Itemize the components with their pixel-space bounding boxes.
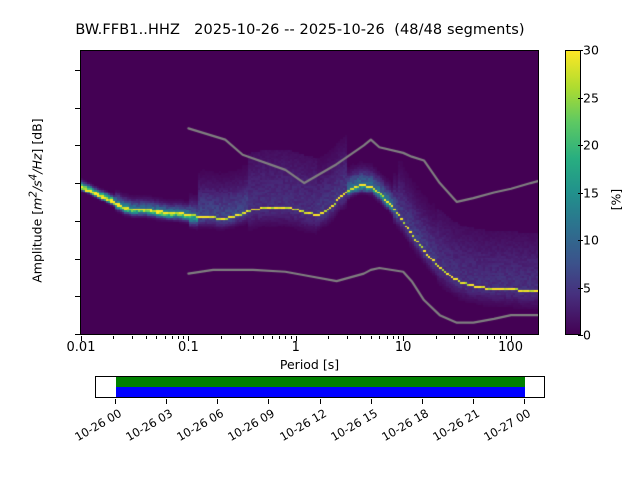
timeline-tick-label: 10-26 12 [271, 406, 328, 447]
timeline-tick-mark [473, 399, 474, 404]
x-axis-minor-tick-mark [183, 336, 184, 339]
colorbar-tick-label: 20 [583, 138, 599, 153]
x-axis-minor-tick-mark [454, 336, 455, 339]
x-axis-minor-tick-mark [156, 336, 157, 339]
y-axis-tick-mark [75, 259, 80, 260]
x-axis-minor-tick-mark [500, 336, 501, 339]
timeline-coverage-bar[interactable] [95, 376, 545, 398]
timeline-tick-mark [268, 399, 269, 404]
x-axis-minor-tick-mark [146, 336, 147, 339]
x-axis-minor-tick-mark [468, 336, 469, 339]
colorbar-tick-label: 5 [583, 280, 591, 295]
x-axis-minor-tick-mark [272, 336, 273, 339]
timeline-tick-mark [320, 399, 321, 404]
x-axis-tick-label: 1 [292, 340, 300, 355]
y-axis-tick-mark [75, 221, 80, 222]
y-axis-tick-mark [75, 296, 80, 297]
x-axis-major-tick-mark [296, 336, 297, 341]
colorbar-tick-label: 15 [583, 185, 599, 200]
x-axis-major-tick-mark [188, 336, 189, 341]
colorbar-tick-mark [578, 240, 583, 241]
x-axis-tick-label: 100 [498, 340, 523, 355]
colorbar-tick-label: 10 [583, 233, 599, 248]
timeline-tick-label: 10-26 03 [118, 406, 175, 447]
colorbar-tick-label: 25 [583, 90, 599, 105]
x-axis-minor-tick-mark [436, 336, 437, 339]
peterson-noise-model-curves [81, 51, 538, 334]
x-axis-minor-tick-mark [132, 336, 133, 339]
x-axis-major-tick-mark [403, 336, 404, 341]
x-axis-minor-tick-mark [279, 336, 280, 339]
x-axis-tick-label: 0.01 [67, 340, 96, 355]
timeline-data-band [116, 377, 525, 387]
ppsd-figure: BW.FFB1..HHZ 2025-10-26 -- 2025-10-26 (4… [0, 0, 640, 480]
x-axis-minor-tick-mark [371, 336, 372, 339]
timeline-tick-mark [422, 399, 423, 404]
x-axis-minor-tick-mark [506, 336, 507, 339]
figure-title: BW.FFB1..HHZ 2025-10-26 -- 2025-10-26 (4… [0, 22, 600, 38]
timeline-tick-label: 10-26 06 [169, 406, 226, 447]
timeline-tick-mark [115, 399, 116, 404]
colorbar-tick-mark [578, 335, 583, 336]
x-axis-minor-tick-mark [178, 336, 179, 339]
x-axis-minor-tick-mark [478, 336, 479, 339]
x-axis-minor-tick-mark [285, 336, 286, 339]
x-axis-major-tick-mark [81, 336, 82, 341]
y-axis-tick-mark [75, 108, 80, 109]
timeline-tick-label: 10-26 18 [374, 406, 431, 447]
y-axis-label-prefix: Amplitude [ [30, 210, 45, 283]
x-axis-minor-tick-mark [494, 336, 495, 339]
colorbar-tick-mark [578, 50, 583, 51]
x-axis-minor-tick-mark [347, 336, 348, 339]
x-axis-minor-tick-mark [240, 336, 241, 339]
colorbar-label: [%] [609, 140, 624, 260]
colorbar-tick-label: 0 [583, 328, 591, 343]
x-axis-tick-label: 0.1 [178, 340, 199, 355]
timeline-tick-label: 10-26 15 [322, 406, 379, 447]
x-axis-minor-tick-mark [393, 336, 394, 339]
y-axis-tick-mark [75, 183, 80, 184]
x-axis-minor-tick-mark [253, 336, 254, 339]
ppsd-plot-area[interactable] [80, 50, 539, 335]
y-axis-tick-mark [75, 70, 80, 71]
timeline-tick-mark [217, 399, 218, 404]
x-axis-minor-tick-mark [113, 336, 114, 339]
x-axis-minor-tick-mark [360, 336, 361, 339]
timeline-segment-band [116, 387, 525, 397]
x-axis-minor-tick-mark [221, 336, 222, 339]
timeline-tick-label: 10-26 09 [220, 406, 277, 447]
x-axis-minor-tick-mark [328, 336, 329, 339]
timeline-tick-label: 10-26 21 [425, 406, 482, 447]
x-axis-major-tick-mark [511, 336, 512, 341]
x-axis-minor-tick-mark [165, 336, 166, 339]
colorbar-tick-mark [578, 145, 583, 146]
colorbar-tick-label: 30 [583, 43, 599, 58]
timeline-tick-label: 10-27 00 [476, 406, 533, 447]
timeline-tick-label: 10-26 00 [67, 406, 124, 447]
x-axis-minor-tick-mark [291, 336, 292, 339]
y-axis-label: Amplitude [m2/s4/Hz] [dB] [27, 61, 44, 341]
timeline-tick-mark [371, 399, 372, 404]
x-axis-minor-tick-mark [487, 336, 488, 339]
x-axis-label: Period [s] [80, 357, 539, 372]
y-axis-tick-mark [75, 334, 80, 335]
y-axis-tick-mark [75, 145, 80, 146]
x-axis-minor-tick-mark [379, 336, 380, 339]
colorbar-tick-mark [578, 288, 583, 289]
x-axis-tick-label: 10 [395, 340, 412, 355]
y-axis-label-suffix: ] [dB] [30, 118, 45, 153]
x-axis-minor-tick-mark [387, 336, 388, 339]
x-axis-minor-tick-mark [172, 336, 173, 339]
timeline-tick-mark [166, 399, 167, 404]
x-axis-minor-tick-mark [263, 336, 264, 339]
colorbar-tick-mark [578, 98, 583, 99]
x-axis-minor-tick-mark [398, 336, 399, 339]
colorbar-tick-mark [578, 193, 583, 194]
timeline-tick-mark [524, 399, 525, 404]
